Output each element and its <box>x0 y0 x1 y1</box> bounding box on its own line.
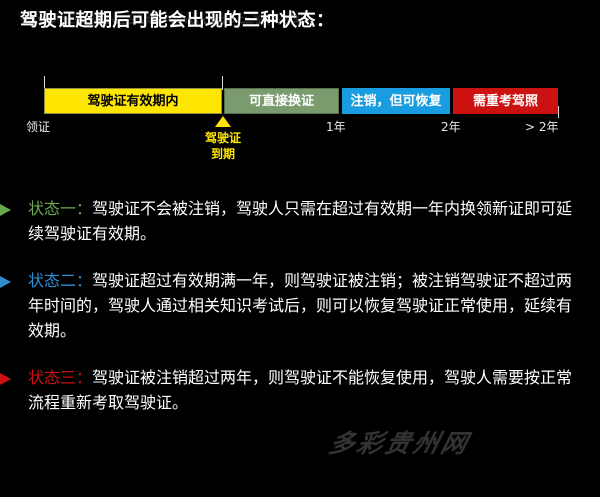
status-list: 状态一：驾驶证不会被注销，驾驶人只需在超过有效期一年内换领新证即可延续驾驶证有效… <box>0 196 600 437</box>
status-one-body: 驾驶证不会被注销，驾驶人只需在超过有效期一年内换领新证即可延续驾驶证有效期。 <box>28 199 572 243</box>
timeline: 驾驶证有效期内 可直接换证 注销，但可恢复 需重考驾照 领证 1年 2年 > 2… <box>0 60 600 175</box>
expiry-marker: 驾驶证 到期 <box>213 116 233 127</box>
status-item-three: 状态三：驾驶证被注销超过两年，则驾驶证不能恢复使用，驾驶人需要按正常流程重新考取… <box>0 365 600 415</box>
timeline-ticks <box>0 60 600 90</box>
timeline-tick-end <box>558 106 559 118</box>
triangle-right-icon <box>0 276 11 288</box>
page-title: 驾驶证超期后可能会出现的三种状态： <box>20 6 335 32</box>
status-one-key: 状态一： <box>28 199 92 218</box>
timeline-label-year2plus: > 2年 <box>525 118 559 135</box>
status-item-one: 状态一：驾驶证不会被注销，驾驶人只需在超过有效期一年内换领新证即可延续驾驶证有效… <box>0 196 600 246</box>
triangle-up-icon <box>215 116 231 127</box>
status-two-body: 驾驶证超过有效期满一年，则驾驶证被注销；被注销驾驶证不超过两年时间的，驾驶人通过… <box>28 271 572 340</box>
triangle-right-icon <box>0 204 11 216</box>
timeline-bar: 驾驶证有效期内 可直接换证 注销，但可恢复 需重考驾照 <box>44 88 558 114</box>
status-three-text: 状态三：驾驶证被注销超过两年，则驾驶证不能恢复使用，驾驶人需要按正常流程重新考取… <box>28 365 586 415</box>
status-three-key: 状态三： <box>28 368 92 387</box>
timeline-segment-cancel[interactable]: 注销，但可恢复 <box>342 88 450 114</box>
timeline-label-year1: 1年 <box>326 118 346 135</box>
status-three-body: 驾驶证被注销超过两年，则驾驶证不能恢复使用，驾驶人需要按正常流程重新考取驾驶证。 <box>28 368 572 412</box>
status-two-text: 状态二：驾驶证超过有效期满一年，则驾驶证被注销；被注销驾驶证不超过两年时间的，驾… <box>28 268 586 343</box>
timeline-segment-retest[interactable]: 需重考驾照 <box>453 88 558 114</box>
expiry-marker-line1: 驾驶证 <box>179 130 267 146</box>
timeline-axis-labels: 领证 1年 2年 > 2年 <box>0 118 600 136</box>
expiry-marker-line2: 到期 <box>179 146 267 162</box>
timeline-label-issue: 领证 <box>26 118 50 135</box>
expiry-marker-label: 驾驶证 到期 <box>179 130 267 162</box>
triangle-right-icon <box>0 373 11 385</box>
timeline-segment-renew[interactable]: 可直接换证 <box>224 88 339 114</box>
status-item-two: 状态二：驾驶证超过有效期满一年，则驾驶证被注销；被注销驾驶证不超过两年时间的，驾… <box>0 268 600 343</box>
timeline-label-year2: 2年 <box>441 118 461 135</box>
status-two-key: 状态二： <box>28 271 92 290</box>
timeline-segment-valid[interactable]: 驾驶证有效期内 <box>44 88 222 114</box>
status-one-text: 状态一：驾驶证不会被注销，驾驶人只需在超过有效期一年内换领新证即可延续驾驶证有效… <box>28 196 586 246</box>
page-title-block: 驾驶证超期后可能会出现的三种状态： 驾驶证超期后可能会出现的三种状态： <box>20 6 580 54</box>
